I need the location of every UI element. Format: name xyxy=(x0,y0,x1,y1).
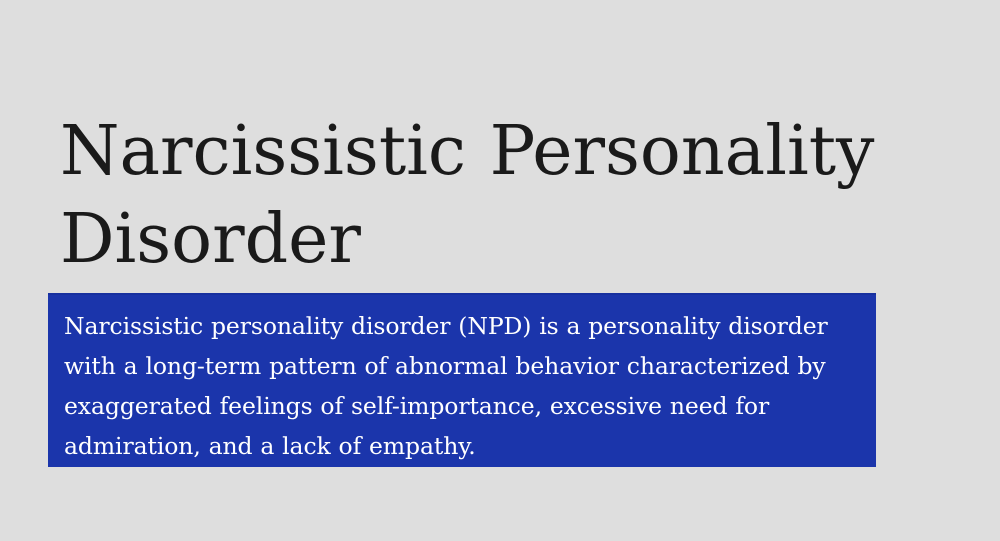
definition-text: Narcissistic personality disorder (NPD) … xyxy=(64,306,860,466)
slide-canvas: Narcissistic Personality Disorder Narcis… xyxy=(0,0,1000,541)
page-title: Narcissistic Personality Disorder xyxy=(60,108,880,284)
definition-panel: Narcissistic personality disorder (NPD) … xyxy=(48,293,876,467)
